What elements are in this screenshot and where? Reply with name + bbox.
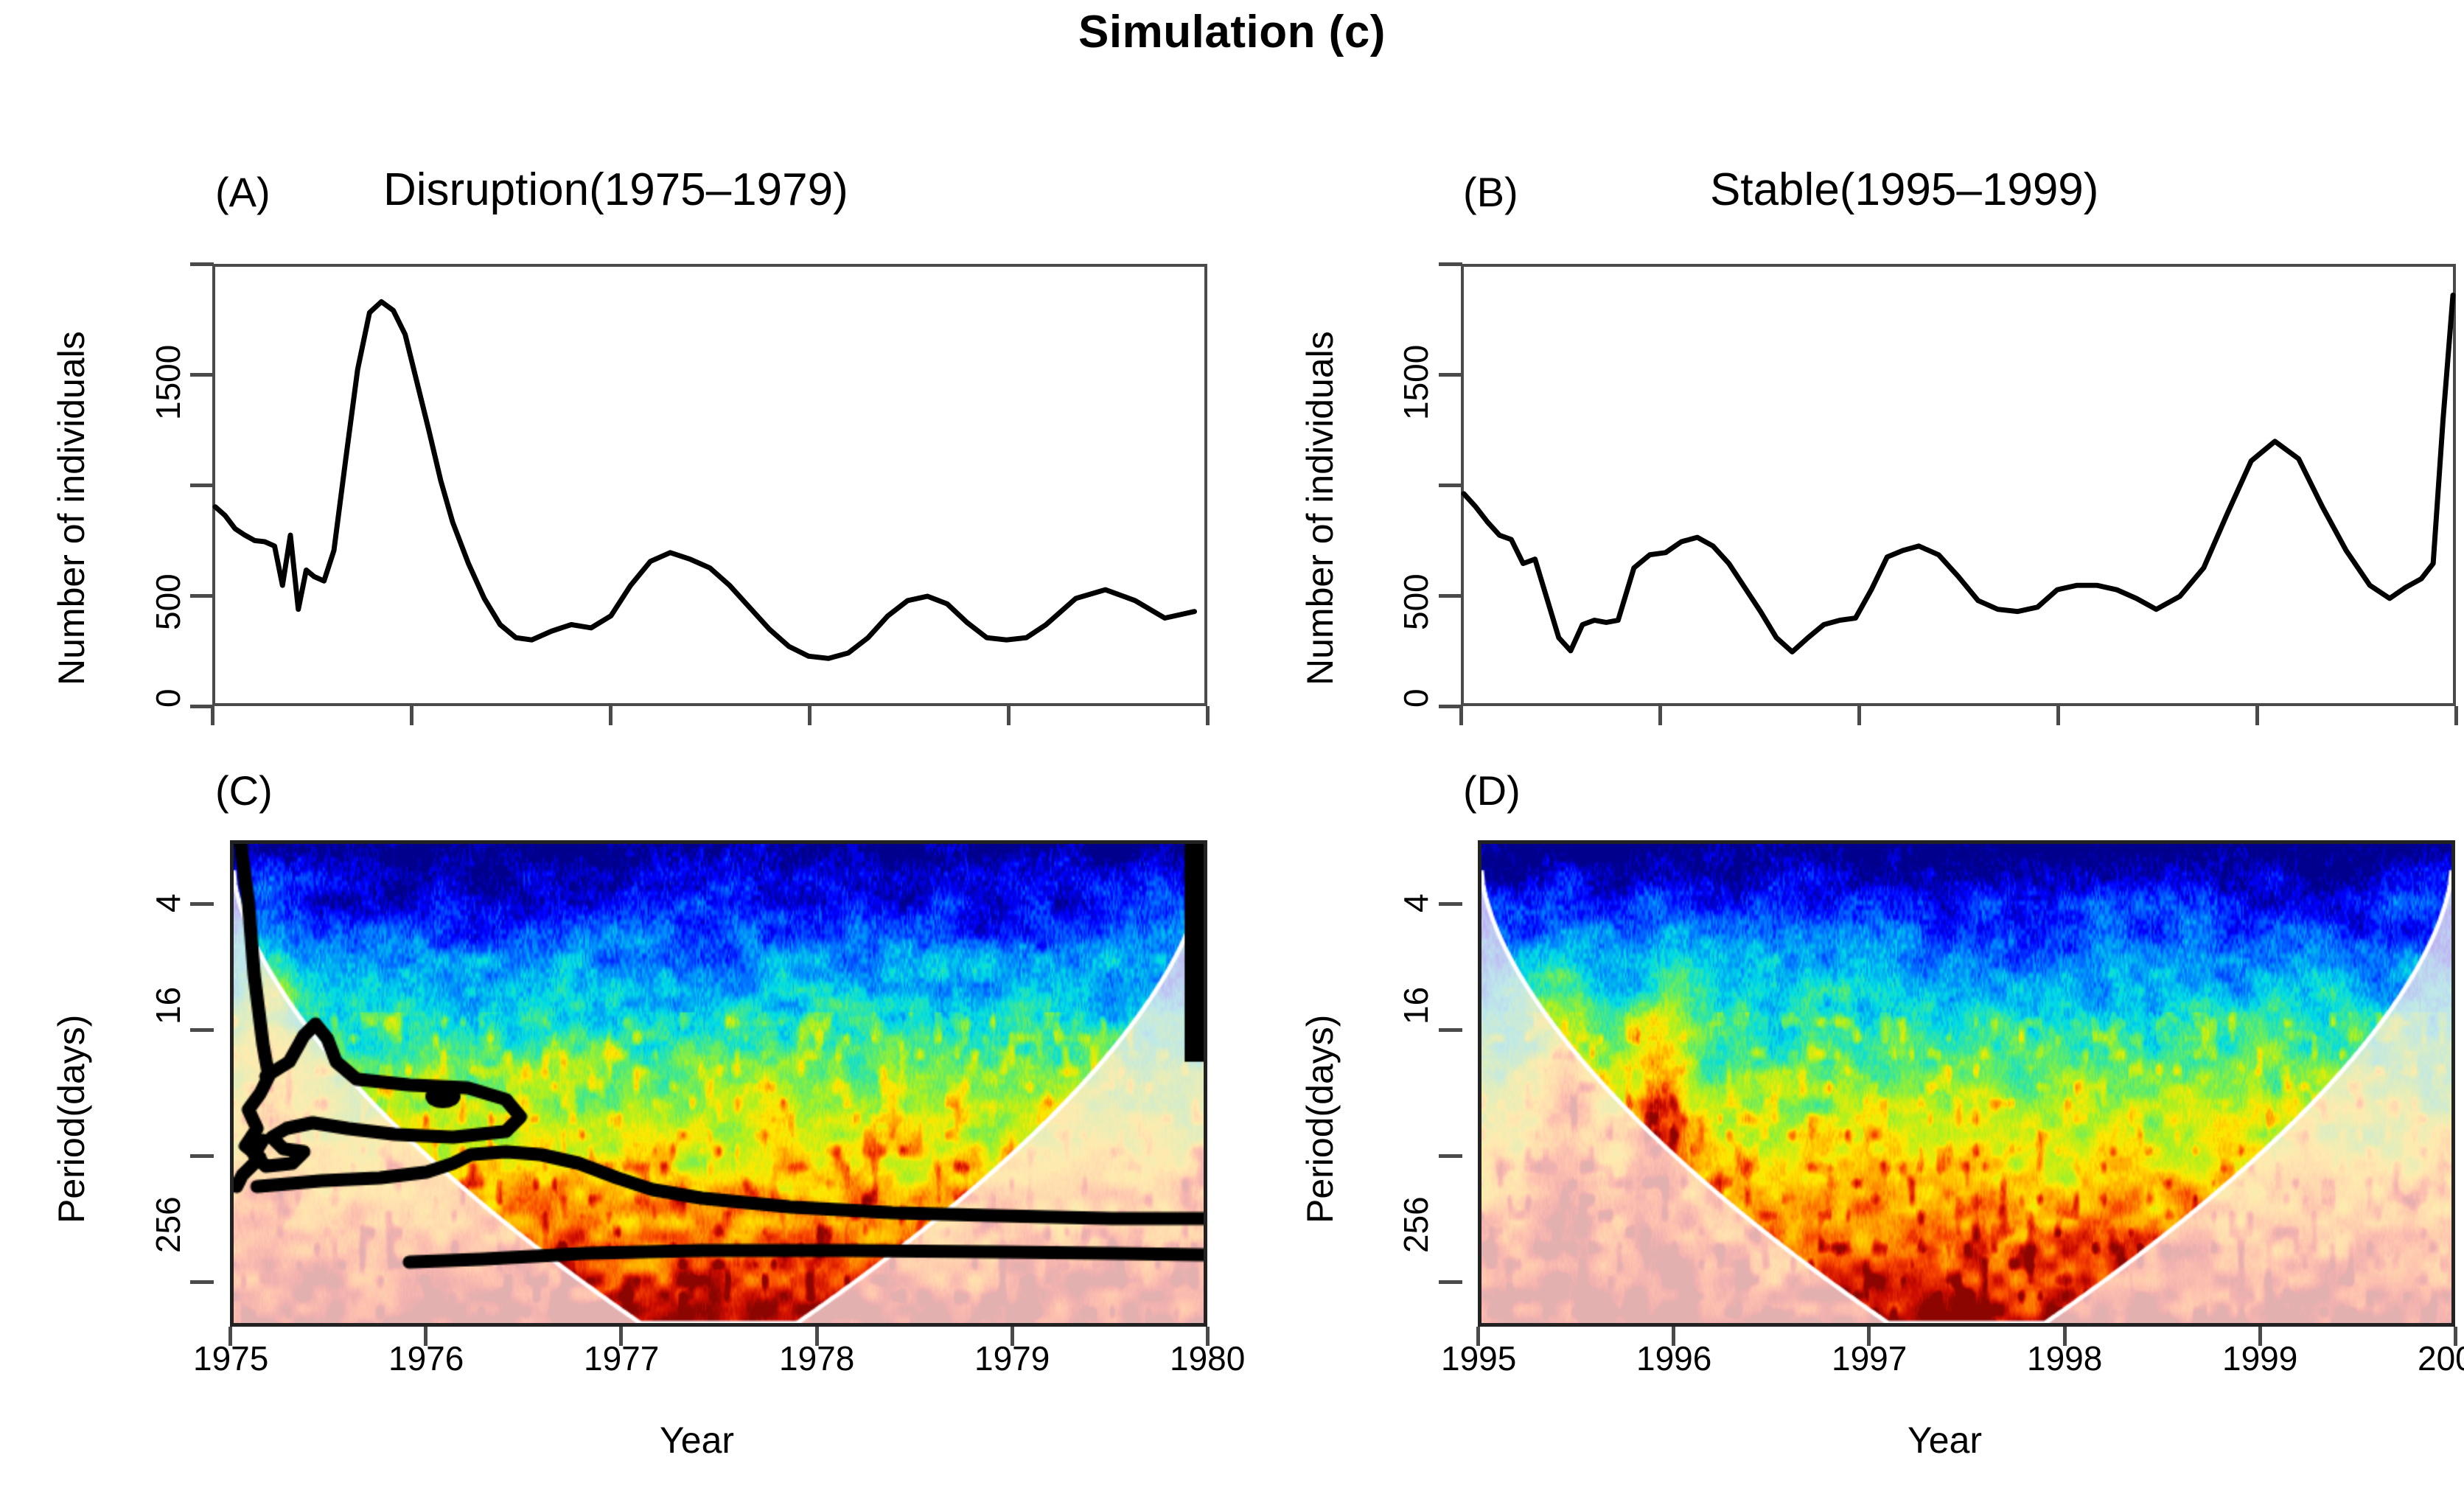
panel-c-ylabel: Period(days) <box>50 1015 93 1224</box>
tick-mark <box>2454 706 2458 725</box>
tick-mark <box>410 706 413 725</box>
panel-b-series-svg <box>1464 267 2453 703</box>
panel-c-xtick-2: 1977 <box>584 1341 659 1375</box>
tick-mark <box>1439 594 1462 598</box>
panel-b-ytick-1500: 1500 <box>1399 345 1433 420</box>
tick-mark <box>619 1327 623 1346</box>
tick-mark <box>1439 262 1462 266</box>
panel-b-ytick-500: 500 <box>1399 573 1433 630</box>
tick-mark <box>1439 1280 1462 1284</box>
panel-d-xtick-3: 1998 <box>2027 1341 2102 1375</box>
tick-mark <box>2454 1327 2457 1346</box>
tick-mark <box>1007 706 1011 725</box>
tick-mark <box>1459 706 1463 725</box>
panel-c-wavelet-canvas <box>234 844 1204 1323</box>
tick-mark <box>1439 902 1462 906</box>
panel-d-tag: (D) <box>1463 767 1521 814</box>
panel-c-ytick-256: 256 <box>151 1196 185 1253</box>
panel-d-xtick-1: 1996 <box>1636 1341 1711 1375</box>
panel-c-xtick-4: 1979 <box>974 1341 1050 1375</box>
tick-mark <box>190 373 214 377</box>
panel-d-ytick-16: 16 <box>1399 987 1433 1024</box>
tick-mark <box>2258 1327 2262 1346</box>
panel-a-title: Disruption(1975–1979) <box>383 164 848 216</box>
panel-c-xtick-5: 1980 <box>1170 1341 1245 1375</box>
panel-b-ylabel: Number of individuals <box>1299 331 1341 685</box>
panel-d-xtick-0: 1995 <box>1441 1341 1516 1375</box>
tick-mark <box>1206 706 1210 725</box>
tick-mark <box>228 1327 232 1346</box>
tick-mark <box>1439 484 1462 487</box>
panel-c-ytick-16: 16 <box>151 987 185 1024</box>
tick-mark <box>190 1280 214 1284</box>
tick-mark <box>1439 1154 1462 1158</box>
panel-a-ytick-1500: 1500 <box>151 345 185 420</box>
panel-d-xlabel: Year <box>1908 1419 1982 1462</box>
tick-mark <box>1658 706 1662 725</box>
panel-b-tag: (B) <box>1463 168 1518 216</box>
tick-mark <box>190 902 214 906</box>
tick-mark <box>424 1327 427 1346</box>
panel-c-xlabel: Year <box>660 1419 734 1462</box>
panel-c-ytick-4: 4 <box>151 893 185 912</box>
tick-mark <box>211 706 214 725</box>
tick-mark <box>2063 1327 2067 1346</box>
tick-mark <box>190 1154 214 1158</box>
tick-mark <box>815 1327 819 1346</box>
panel-a-ytick-500: 500 <box>151 573 185 630</box>
tick-mark <box>1867 1327 1871 1346</box>
panel-b-plot-area <box>1461 264 2456 706</box>
panel-a-plot-area <box>212 264 1207 706</box>
tick-mark <box>1672 1327 1675 1346</box>
tick-mark <box>1439 373 1462 377</box>
tick-mark <box>190 262 214 266</box>
tick-mark <box>190 484 214 487</box>
panel-a-ylabel: Number of individuals <box>50 331 93 685</box>
tick-mark <box>2056 706 2060 725</box>
tick-mark <box>1011 1327 1014 1346</box>
tick-mark <box>190 1028 214 1032</box>
panel-d-ytick-4: 4 <box>1399 893 1433 912</box>
panel-b-title: Stable(1995–1999) <box>1710 164 2098 216</box>
tick-mark <box>1206 1327 1210 1346</box>
tick-mark <box>190 594 214 598</box>
panel-b-line <box>1464 295 2453 652</box>
panel-a-series-svg <box>215 267 1204 703</box>
tick-mark <box>808 706 812 725</box>
tick-mark <box>1439 1028 1462 1032</box>
panel-d-xtick-2: 1997 <box>1832 1341 1907 1375</box>
tick-mark <box>1476 1327 1480 1346</box>
panel-d-xtick-4: 1999 <box>2222 1341 2297 1375</box>
tick-mark <box>609 706 612 725</box>
panel-b-ytick-0: 0 <box>1399 688 1433 708</box>
panel-d-wavelet-area <box>1478 840 2455 1327</box>
figure-title: Simulation (c) <box>0 6 2464 58</box>
panel-d-wavelet-canvas <box>1481 844 2451 1323</box>
panel-c-xtick-1: 1976 <box>388 1341 464 1375</box>
figure-root: Simulation (c) (A) Disruption(1975–1979)… <box>0 0 2464 1494</box>
panel-a-line <box>215 301 1195 658</box>
panel-c-xtick-3: 1978 <box>779 1341 854 1375</box>
panel-d-xtick-5: 2000 <box>2418 1341 2464 1375</box>
panel-a-tag: (A) <box>215 168 271 216</box>
tick-mark <box>1857 706 1861 725</box>
panel-c-tag: (C) <box>215 767 273 814</box>
tick-mark <box>2255 706 2259 725</box>
panel-c-xtick-0: 1975 <box>193 1341 268 1375</box>
panel-a-ytick-0: 0 <box>151 688 185 708</box>
panel-d-ylabel: Period(days) <box>1299 1015 1341 1224</box>
panel-d-ytick-256: 256 <box>1399 1196 1433 1253</box>
panel-c-wavelet-area <box>230 840 1207 1327</box>
